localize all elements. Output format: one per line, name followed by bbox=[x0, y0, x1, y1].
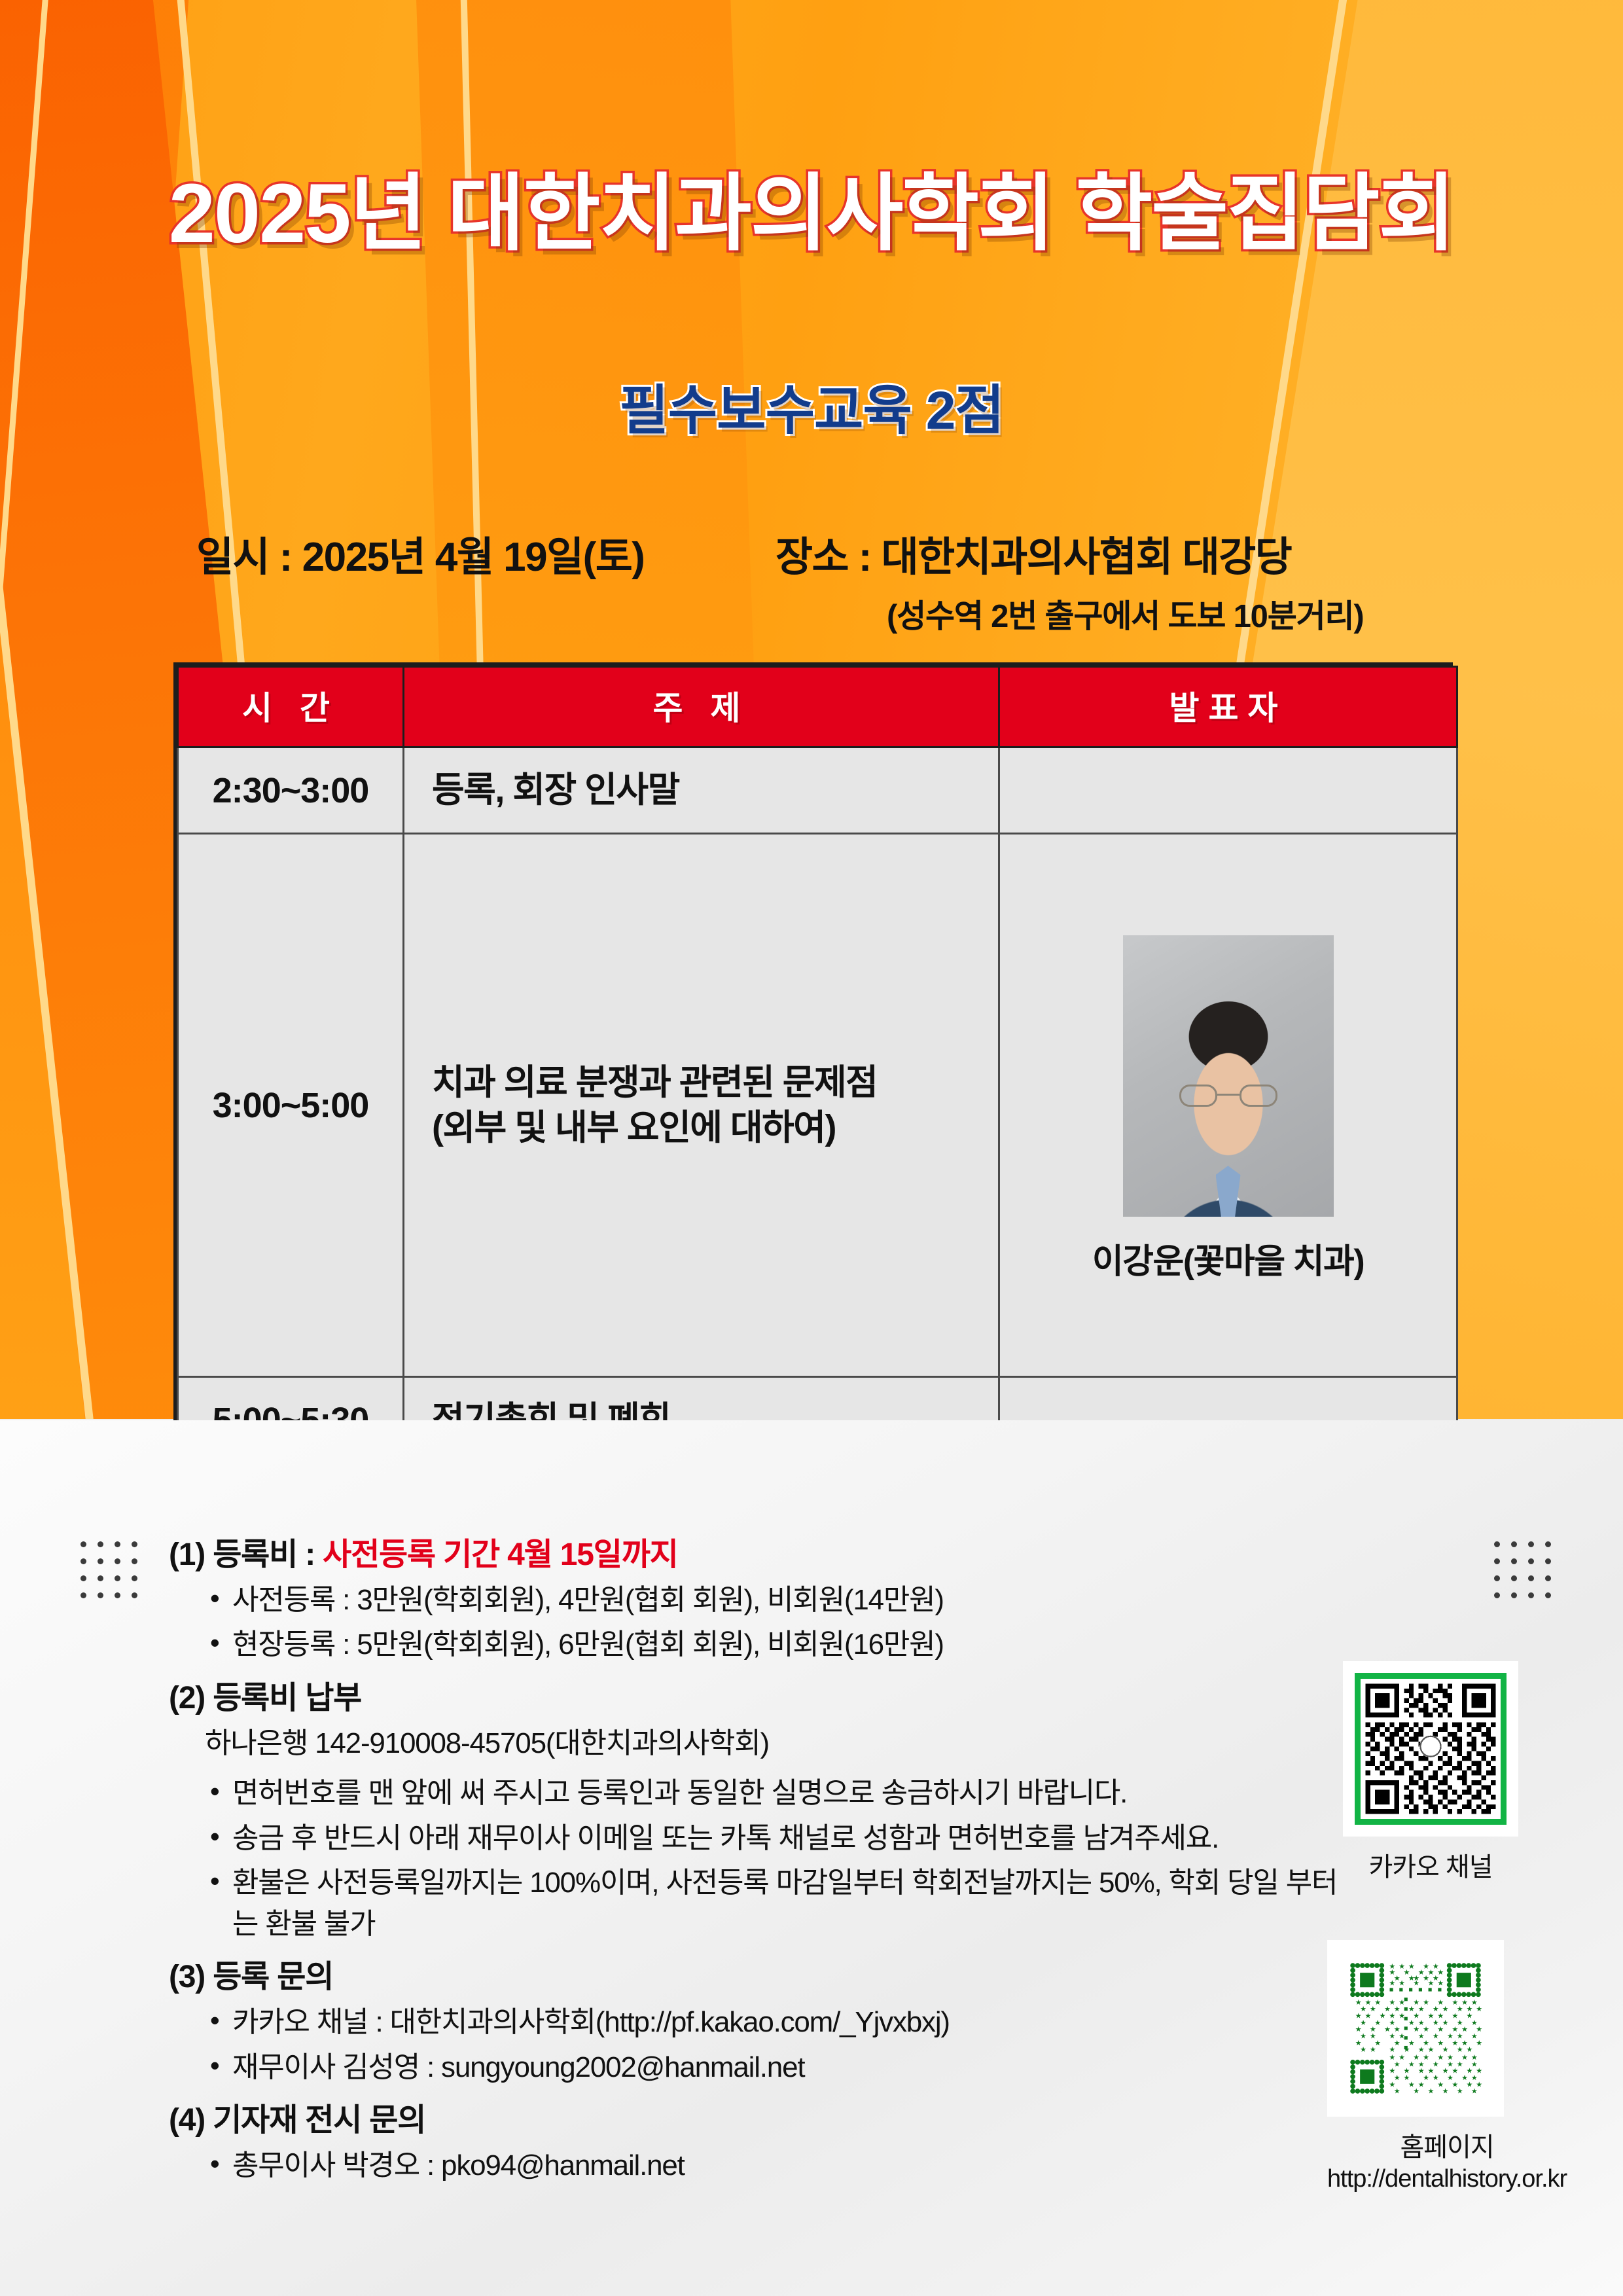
svg-text:★: ★ bbox=[1457, 2046, 1463, 2054]
homepage-qr-code-icon: ★★★★★ ★★★★★ ★★★★★ ★★★★★ ★★★★★ ★★★★★★ ★★★… bbox=[1346, 1958, 1486, 2098]
cell-topic: 등록, 회장 인사말 bbox=[404, 747, 999, 834]
svg-text:★: ★ bbox=[1471, 2088, 1478, 2096]
poster-root: 2025년 대한치과의사학회 학술집담회 필수보수교육 2점 일시 : 2025… bbox=[0, 0, 1623, 2296]
svg-text:★: ★ bbox=[1437, 1979, 1444, 1987]
list-item: 카카오 채널 : 대한치과의사학회(http://pf.kakao.com/_Y… bbox=[205, 2002, 1347, 2043]
schedule-table: 시 간 주 제 발표자 2:30~3:00 등록, 회장 인사말 3:00~5:… bbox=[177, 666, 1458, 1464]
list-item: 재무이사 김성영 : sungyoung2002@hanmail.net bbox=[205, 2047, 1347, 2088]
topic-line-1: 치과 의료 분쟁과 관련된 문제점 bbox=[432, 1060, 998, 1105]
kakao-qr-card bbox=[1343, 1661, 1518, 1837]
svg-text:★: ★ bbox=[1418, 2046, 1425, 2054]
column-header-speaker: 발표자 bbox=[999, 667, 1457, 747]
table-header-row: 시 간 주 제 발표자 bbox=[178, 667, 1457, 747]
list-item: 총무이사 박경오 : pko94@hanmail.net bbox=[205, 2145, 1347, 2186]
section-3-bullets: 카카오 채널 : 대한치과의사학회(http://pf.kakao.com/_Y… bbox=[205, 2002, 1347, 2088]
section-4-heading: (4) 기자재 전시 문의 bbox=[169, 2105, 1347, 2136]
section-2-heading: (2) 등록비 납부 bbox=[169, 1683, 1347, 1714]
homepage-qr-url: http://dentalhistory.or.kr bbox=[1327, 2165, 1567, 2193]
table-row: 3:00~5:00 치과 의료 분쟁과 관련된 문제점 (외부 및 내부 요인에… bbox=[178, 834, 1457, 1377]
speaker-block: 이강운(꽃마을 치과) bbox=[1000, 916, 1456, 1295]
list-item: 면허번호를 맨 앞에 써 주시고 등록인과 동일한 실명으로 송금하시기 바랍니… bbox=[205, 1773, 1347, 1814]
svg-text:★: ★ bbox=[1404, 2046, 1410, 2054]
event-place-note: (성수역 2번 출구에서 도보 10분거리) bbox=[887, 590, 1364, 637]
svg-text:★: ★ bbox=[1476, 2039, 1482, 2047]
svg-text:★: ★ bbox=[1413, 1979, 1419, 1987]
homepage-qr-card: ★★★★★ ★★★★★ ★★★★★ ★★★★★ ★★★★★ ★★★★★★ ★★★… bbox=[1327, 1940, 1504, 2117]
cell-time: 3:00~5:00 bbox=[178, 834, 404, 1377]
svg-text:★: ★ bbox=[1399, 2013, 1405, 2020]
section-2-bullets: 면허번호를 맨 앞에 써 주시고 등록인과 동일한 실명으로 송금하시기 바랍니… bbox=[205, 1773, 1347, 1945]
bank-account-line: 하나은행 142-910008-45705(대한치과의사학회) bbox=[205, 1723, 1347, 1764]
section-3-heading: (3) 등록 문의 bbox=[169, 1962, 1347, 1993]
svg-text:★: ★ bbox=[1442, 2088, 1449, 2096]
kakao-qr-block[interactable]: 카카오 채널 bbox=[1343, 1661, 1518, 1884]
svg-text:★: ★ bbox=[1427, 2088, 1434, 2096]
section-1-highlight: 사전등록 기간 4월 15일까지 bbox=[323, 1537, 678, 1572]
kakao-qr-label: 카카오 채널 bbox=[1343, 1846, 1518, 1884]
svg-text:★: ★ bbox=[1427, 2046, 1434, 2054]
cell-speaker: 이강운(꽃마을 치과) bbox=[999, 834, 1457, 1377]
section-4-bullets: 총무이사 박경오 : pko94@hanmail.net bbox=[205, 2145, 1347, 2186]
list-item: 사전등록 : 3만원(학회회원), 4만원(협회 회원), 비회원(14만원) bbox=[205, 1580, 1347, 1621]
svg-text:★: ★ bbox=[1442, 2046, 1449, 2054]
section-1-heading: (1) 등록비 : 사전등록 기간 4월 15일까지 bbox=[169, 1539, 1347, 1571]
decorative-dot-grid-right bbox=[1494, 1541, 1562, 1609]
list-item: 송금 후 반드시 아래 재무이사 이메일 또는 카톡 채널로 성함과 면허번호를… bbox=[205, 1818, 1347, 1859]
section-1-bullets: 사전등록 : 3만원(학회회원), 4만원(협회 회원), 비회원(14만원) … bbox=[205, 1580, 1347, 1666]
poster-subtitle: 필수보수교육 2점 bbox=[0, 367, 1623, 444]
speaker-name: 이강운(꽃마을 치과) bbox=[1092, 1234, 1364, 1283]
list-item: 현장등록 : 5만원(학회회원), 6만원(협회 회원), 비회원(16만원) bbox=[205, 1624, 1347, 1665]
svg-text:★: ★ bbox=[1389, 2046, 1395, 2054]
svg-text:★: ★ bbox=[1394, 2088, 1400, 2096]
column-header-topic: 주 제 bbox=[404, 667, 999, 747]
cell-topic: 치과 의료 분쟁과 관련된 문제점 (외부 및 내부 요인에 대하여) bbox=[404, 834, 999, 1377]
speaker-photo bbox=[1123, 935, 1334, 1217]
section-1-prefix: (1) 등록비 : bbox=[169, 1537, 323, 1572]
svg-text:★: ★ bbox=[1360, 2046, 1366, 2054]
svg-text:★: ★ bbox=[1476, 2005, 1482, 2013]
cell-time: 2:30~3:00 bbox=[178, 747, 404, 834]
decorative-dot-grid-left bbox=[80, 1541, 149, 1609]
kakao-qr-code-icon bbox=[1355, 1673, 1507, 1825]
glasses-icon bbox=[1179, 1085, 1277, 1107]
poster-title: 2025년 대한치과의사학회 학술집담회 bbox=[0, 145, 1623, 266]
svg-text:★: ★ bbox=[1389, 1979, 1395, 1987]
list-item: 환불은 사전등록일까지는 100%이며, 사전등록 마감일부터 학회전날까지는 … bbox=[205, 1863, 1347, 1945]
topic-line-2: (외부 및 내부 요인에 대하여) bbox=[432, 1105, 998, 1151]
event-place: 장소 : 대한치과의사협회 대강당 bbox=[776, 524, 1291, 583]
svg-text:★: ★ bbox=[1466, 2046, 1472, 2054]
svg-text:★: ★ bbox=[1427, 1979, 1434, 1987]
info-content: (1) 등록비 : 사전등록 기간 4월 15일까지 사전등록 : 3만원(학회… bbox=[169, 1539, 1347, 2187]
event-date: 일시 : 2025년 4월 19일(토) bbox=[196, 524, 644, 583]
svg-text:★: ★ bbox=[1413, 2088, 1419, 2096]
schedule-table-wrapper: 시 간 주 제 발표자 2:30~3:00 등록, 회장 인사말 3:00~5:… bbox=[173, 662, 1453, 1467]
column-header-time: 시 간 bbox=[178, 667, 404, 747]
svg-text:★: ★ bbox=[1370, 2046, 1376, 2054]
cell-speaker bbox=[999, 747, 1457, 834]
svg-text:★: ★ bbox=[1457, 2088, 1463, 2096]
homepage-qr-block[interactable]: ★★★★★ ★★★★★ ★★★★★ ★★★★★ ★★★★★ ★★★★★★ ★★★… bbox=[1327, 1940, 1567, 2193]
table-row: 2:30~3:00 등록, 회장 인사말 bbox=[178, 747, 1457, 834]
svg-text:★: ★ bbox=[1399, 1979, 1405, 1987]
necktie-shape bbox=[1216, 1166, 1241, 1217]
homepage-qr-label: 홈페이지 bbox=[1327, 2126, 1567, 2164]
